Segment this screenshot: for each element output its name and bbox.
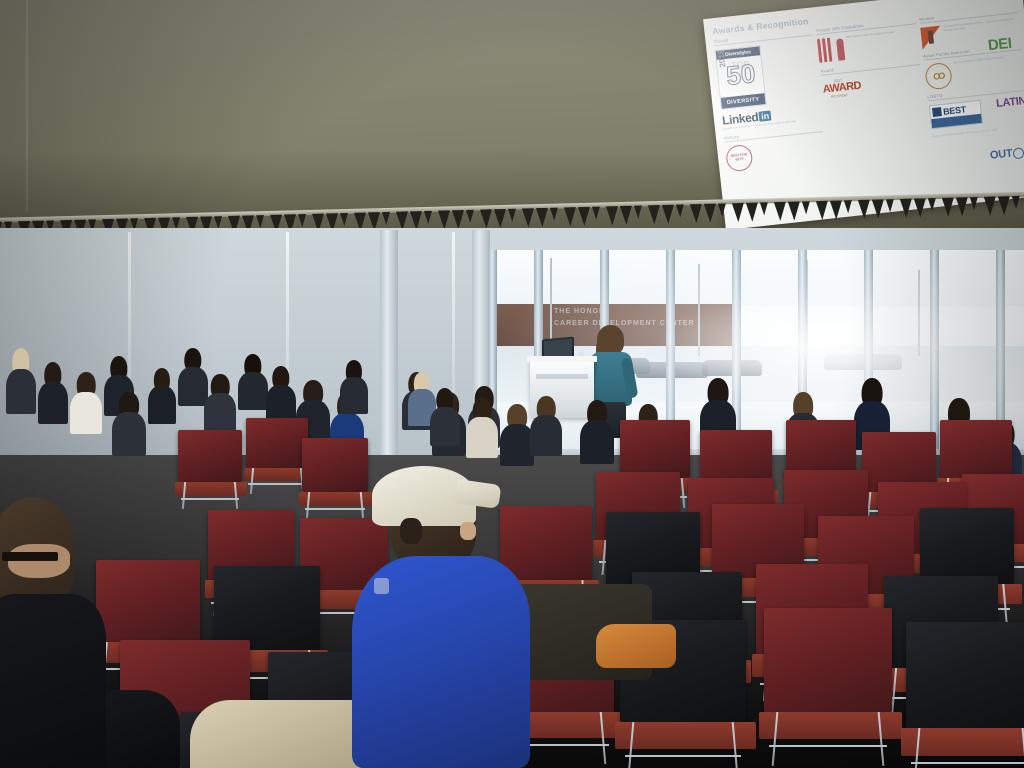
orange-glove [596, 624, 676, 668]
trim-tooth [956, 197, 968, 216]
latina-style-logo: LATINA [995, 90, 1024, 112]
trim-tooth [732, 203, 744, 222]
trim-tooth [480, 209, 492, 228]
chair-rail [911, 762, 1024, 764]
chair-rail [769, 745, 887, 747]
trim-tooth [942, 198, 954, 217]
trim-tooth [494, 209, 506, 228]
attendee-torso [238, 372, 268, 410]
audience-attendee [266, 366, 296, 424]
attendee-torso [340, 377, 368, 414]
attendee-torso [112, 412, 146, 456]
women-triangle-award-icon [920, 26, 942, 50]
attendee-torso [580, 420, 614, 464]
best-places-to-work-icon: BEST [928, 100, 982, 129]
chair-back [214, 566, 320, 650]
best-word: BEST [943, 104, 967, 116]
asia-society-circle-icon: OO [924, 62, 953, 91]
auditorium-chair [620, 420, 690, 478]
disability-equality-index-icon [817, 36, 846, 65]
dei-green-logo: DEI [987, 35, 1012, 55]
trim-tooth [536, 208, 548, 227]
apa-mark: OO [933, 71, 944, 82]
audience-attendee [500, 404, 534, 466]
trim-tooth [508, 209, 516, 222]
attendee-torso [530, 415, 562, 456]
trim-tooth [928, 198, 936, 211]
trim-tooth [466, 210, 474, 223]
front-student-blue-shirt [356, 460, 536, 768]
trim-tooth [592, 207, 600, 220]
trim-tooth [382, 212, 390, 225]
trim-tooth [998, 196, 1010, 215]
chair-back [906, 622, 1024, 728]
trim-tooth [452, 210, 464, 229]
award-item: DiversityInc TOP 50 2018 DIVERSITY [715, 39, 820, 109]
trim-tooth [298, 214, 306, 227]
shirt-logo [374, 578, 389, 594]
audience-attendee [112, 392, 146, 456]
attendee-face [8, 544, 70, 578]
audience-attendee [430, 388, 460, 446]
trim-tooth [564, 207, 576, 226]
structural-column [380, 230, 398, 480]
trim-tooth [690, 204, 702, 223]
attendee-torso [38, 382, 68, 424]
award-item: BEST FOR VETS [725, 136, 827, 173]
linkedin-mark: in [759, 110, 772, 121]
trim-tooth [424, 211, 432, 224]
trim-tooth [872, 199, 884, 218]
attendee-torso [0, 594, 106, 768]
audience-attendee [580, 400, 614, 464]
di-rank: 50 [725, 60, 757, 89]
linkedin-badge: Linked in LinkedIn Top Companies — where… [721, 106, 795, 132]
trim-tooth [662, 205, 674, 224]
trim-tooth [844, 200, 852, 213]
window-etched-text: THE HONORS CAREER DEVELOPMENT CENTER [554, 306, 744, 340]
trim-tooth [830, 200, 842, 219]
chair-back [246, 418, 308, 468]
trim-tooth [1012, 196, 1020, 209]
trim-tooth [438, 210, 450, 229]
slide-award-grid: Overall DiversityInc TOP 50 2018 DIVERSI… [713, 6, 1024, 214]
trim-tooth [340, 213, 348, 226]
attendee-torso [6, 369, 36, 414]
auditorium-chair [246, 418, 308, 468]
diversityinc-top-50-badge: DiversityInc TOP 50 2018 DIVERSITY [715, 45, 767, 110]
trim-tooth [914, 198, 926, 217]
attendee-torso [70, 392, 102, 434]
trim-tooth [550, 208, 558, 221]
chair-back [96, 560, 200, 642]
chair-back [178, 430, 242, 482]
audience-attendee [466, 398, 498, 458]
chair-back [940, 420, 1012, 478]
trim-tooth [788, 202, 800, 221]
chair-rail [181, 498, 240, 500]
audience-attendee [148, 368, 176, 424]
di-year: 2018 [717, 49, 728, 68]
trim-tooth [858, 200, 870, 219]
trim-tooth [774, 202, 786, 221]
trim-tooth [676, 204, 684, 217]
chair-back [764, 608, 892, 712]
slide-column-2: People with Disabilities Best Places to … [816, 17, 934, 203]
attendee-torso [430, 407, 460, 446]
chair-rail [625, 755, 741, 757]
lecture-hall-photo: Awards & Recognition Overall DiversityIn… [0, 0, 1024, 768]
freedom-award-icon: 2017 AWARD RECIPIENT [822, 76, 856, 103]
attendee-torso [466, 417, 498, 458]
chair-rail [248, 483, 305, 485]
trim-tooth [704, 204, 716, 223]
audience-attendee [6, 348, 36, 414]
trim-tooth [984, 197, 996, 216]
sky [488, 250, 1024, 306]
bare-tree [918, 270, 920, 356]
trim-tooth [746, 203, 758, 222]
audience-attendee [238, 354, 268, 410]
attendee-torso [204, 393, 236, 434]
eyeglasses-icon [2, 552, 58, 561]
trim-tooth [886, 199, 894, 212]
slide-column-1: Overall DiversityInc TOP 50 2018 DIVERSI… [713, 29, 831, 215]
trim-tooth [970, 197, 978, 210]
award-item: 2017 AWARD RECIPIENT [822, 69, 923, 104]
lectern-panel [536, 374, 588, 379]
foreground-attendee-with-glasses [0, 498, 96, 768]
student-ear [460, 522, 476, 540]
cap-strap-gap [400, 518, 422, 544]
auditorium-chair [96, 560, 200, 642]
auditorium-chair [920, 508, 1014, 584]
trim-tooth [900, 199, 912, 218]
audience-attendee [70, 372, 102, 434]
auditorium-chair [906, 622, 1024, 728]
trim-tooth [816, 201, 828, 220]
auditorium-chair [178, 430, 242, 482]
trim-tooth [256, 215, 264, 228]
trim-tooth [606, 206, 618, 225]
chair-back [620, 420, 690, 478]
trim-tooth [648, 205, 660, 224]
chair-back [920, 508, 1014, 584]
trim-tooth [620, 206, 632, 225]
parked-car [824, 354, 902, 370]
seal-text: BEST FOR VETS [727, 153, 752, 163]
audience-attendee [204, 374, 236, 434]
auditorium-chair [214, 566, 320, 650]
auditorium-chair [764, 608, 892, 712]
trim-tooth [760, 202, 768, 215]
trim-tooth [718, 203, 726, 216]
audience-attendee [340, 360, 368, 414]
trim-tooth [634, 206, 642, 219]
auditorium-chair [940, 420, 1012, 478]
audience-attendee [38, 362, 68, 424]
trim-tooth [522, 208, 534, 227]
audience-attendee [530, 396, 562, 456]
military-seal-icon: BEST FOR VETS [725, 144, 754, 173]
attendee-torso [148, 386, 176, 424]
trim-tooth [578, 207, 590, 226]
lectern-top [527, 356, 597, 362]
trim-tooth [802, 201, 810, 214]
